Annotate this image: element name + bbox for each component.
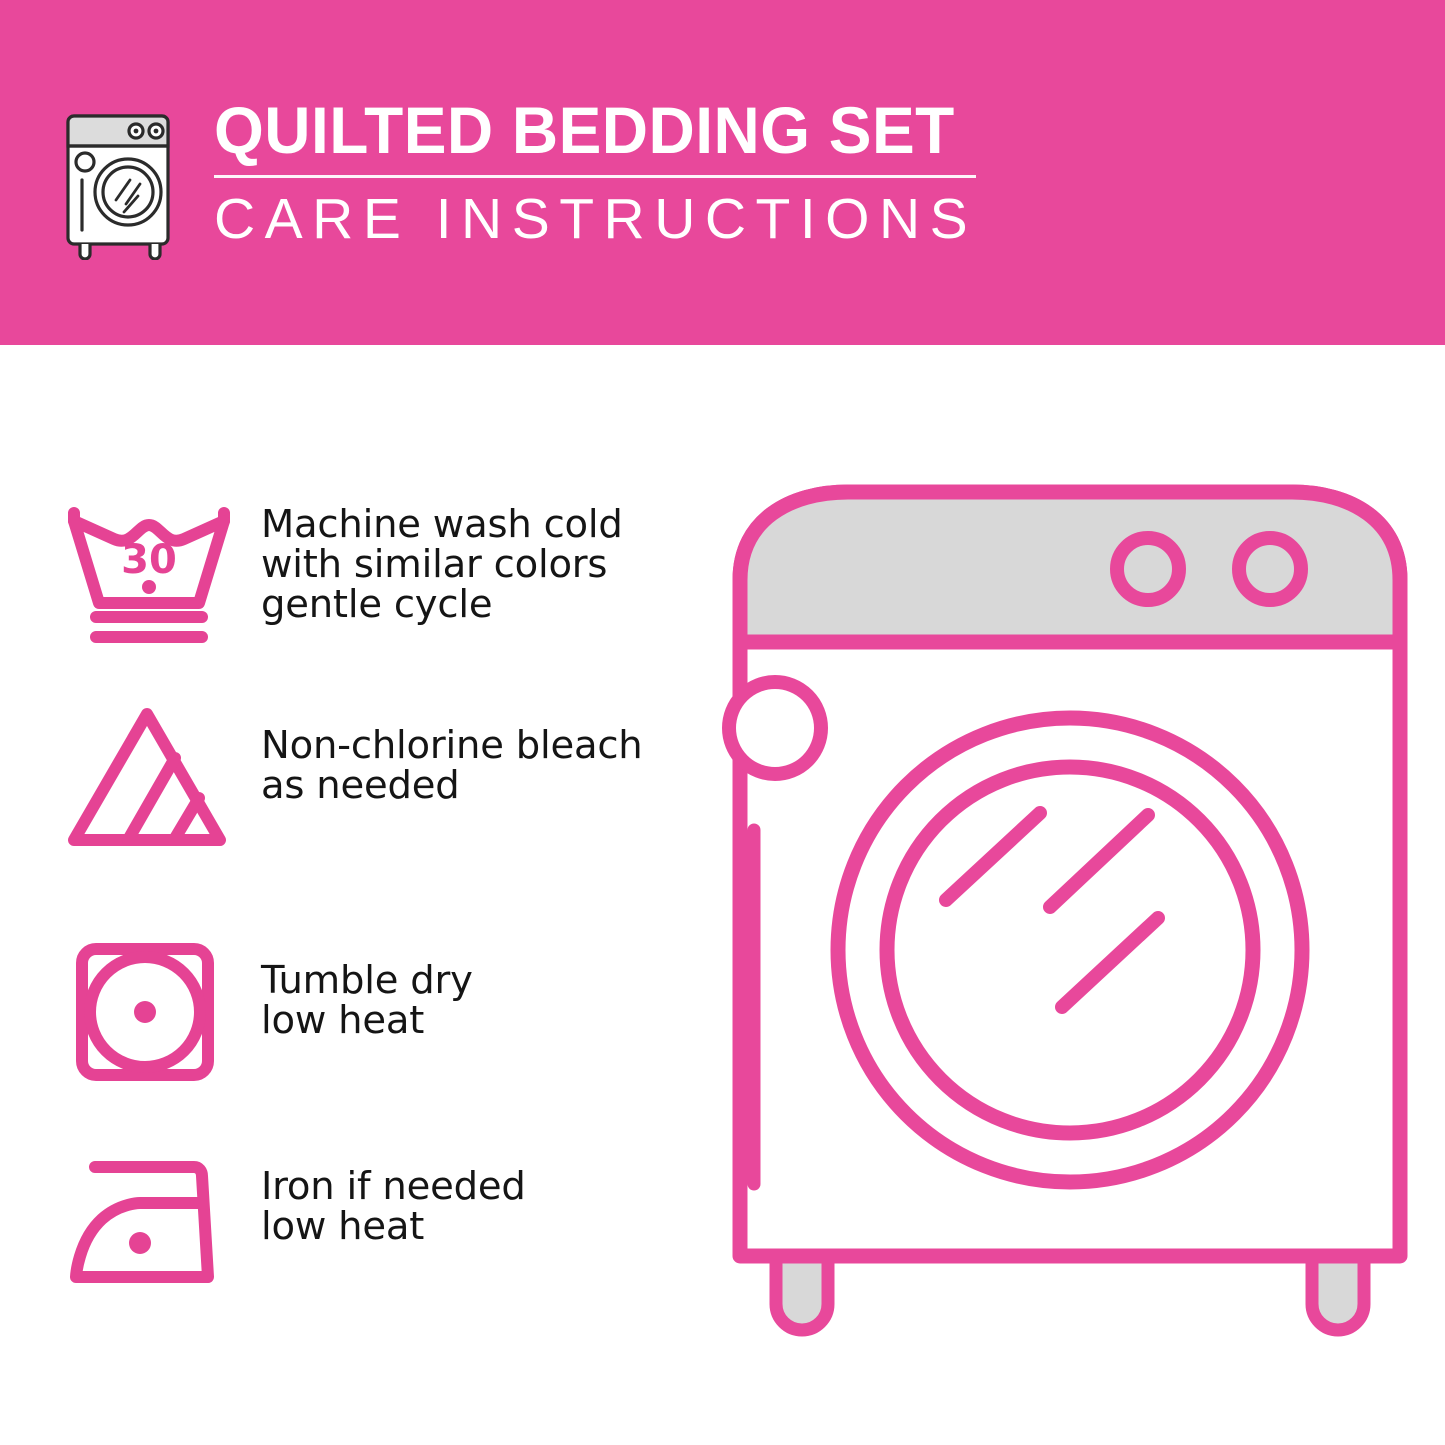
page-title: QUILTED BEDDING SET [214,96,955,164]
care-label: Tumble dry low heat [261,935,473,1041]
care-instructions-list: 30 Machine wash cold with similar colors… [0,345,700,1445]
care-label: Iron if needed low heat [261,1145,526,1247]
header-banner: QUILTED BEDDING SET CARE INSTRUCTIONS [0,0,1445,345]
washing-machine-icon [58,100,186,260]
care-label: Machine wash cold with similar colors ge… [261,491,623,625]
iron-low-heat-icon [62,1145,237,1305]
non-chlorine-bleach-triangle-icon [62,700,237,860]
care-row: Non-chlorine bleach as needed [62,700,682,860]
tumble-dry-low-heat-icon [62,935,237,1095]
page-subtitle: CARE INSTRUCTIONS [214,189,978,249]
header-content: QUILTED BEDDING SET CARE INSTRUCTIONS [58,96,978,260]
large-washing-machine-illustration [718,470,1418,1370]
care-row: Tumble dry low heat [62,935,682,1095]
header-text-block: QUILTED BEDDING SET CARE INSTRUCTIONS [214,96,978,249]
care-row: 30 Machine wash cold with similar colors… [62,491,682,651]
care-label: Non-chlorine bleach as needed [261,700,643,806]
care-row: Iron if needed low heat [62,1145,682,1305]
header-divider [214,175,976,178]
wash-temperature-value: 30 [121,537,177,583]
wash-tub-30-gentle-icon: 30 [62,491,237,651]
